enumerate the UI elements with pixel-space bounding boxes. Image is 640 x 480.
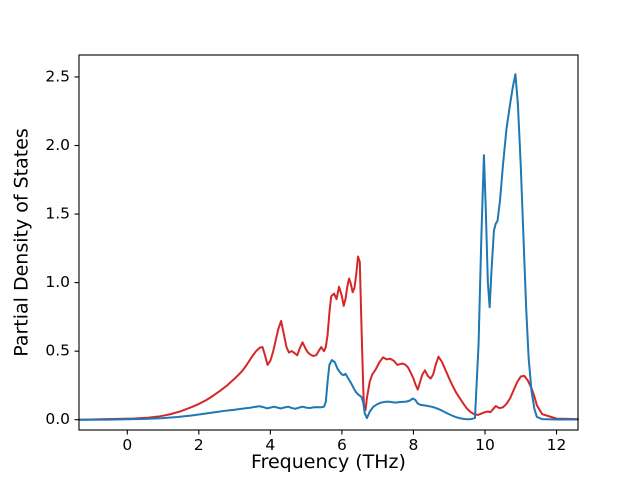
figure-canvas: 024681012 0.00.51.01.52.02.5 Frequency (… — [0, 0, 640, 480]
x-axis-title: Frequency (THz) — [251, 451, 406, 473]
y-tick-label: 2.0 — [45, 136, 70, 154]
y-tick-label: 0.0 — [45, 410, 70, 428]
y-tick-label: 2.5 — [45, 67, 70, 85]
x-tick-label: 10 — [475, 436, 495, 454]
x-tick-label: 0 — [122, 436, 132, 454]
y-tick-label: 1.0 — [45, 273, 70, 291]
y-axis-title: Partial Density of States — [11, 128, 33, 357]
partial-dos-plot: 024681012 0.00.51.01.52.02.5 Frequency (… — [0, 0, 640, 480]
y-tick-label: 0.5 — [45, 342, 70, 360]
y-tick-label: 1.5 — [45, 205, 70, 223]
x-tick-label: 2 — [194, 436, 204, 454]
x-tick-label: 12 — [547, 436, 567, 454]
x-tick-label: 8 — [409, 436, 419, 454]
